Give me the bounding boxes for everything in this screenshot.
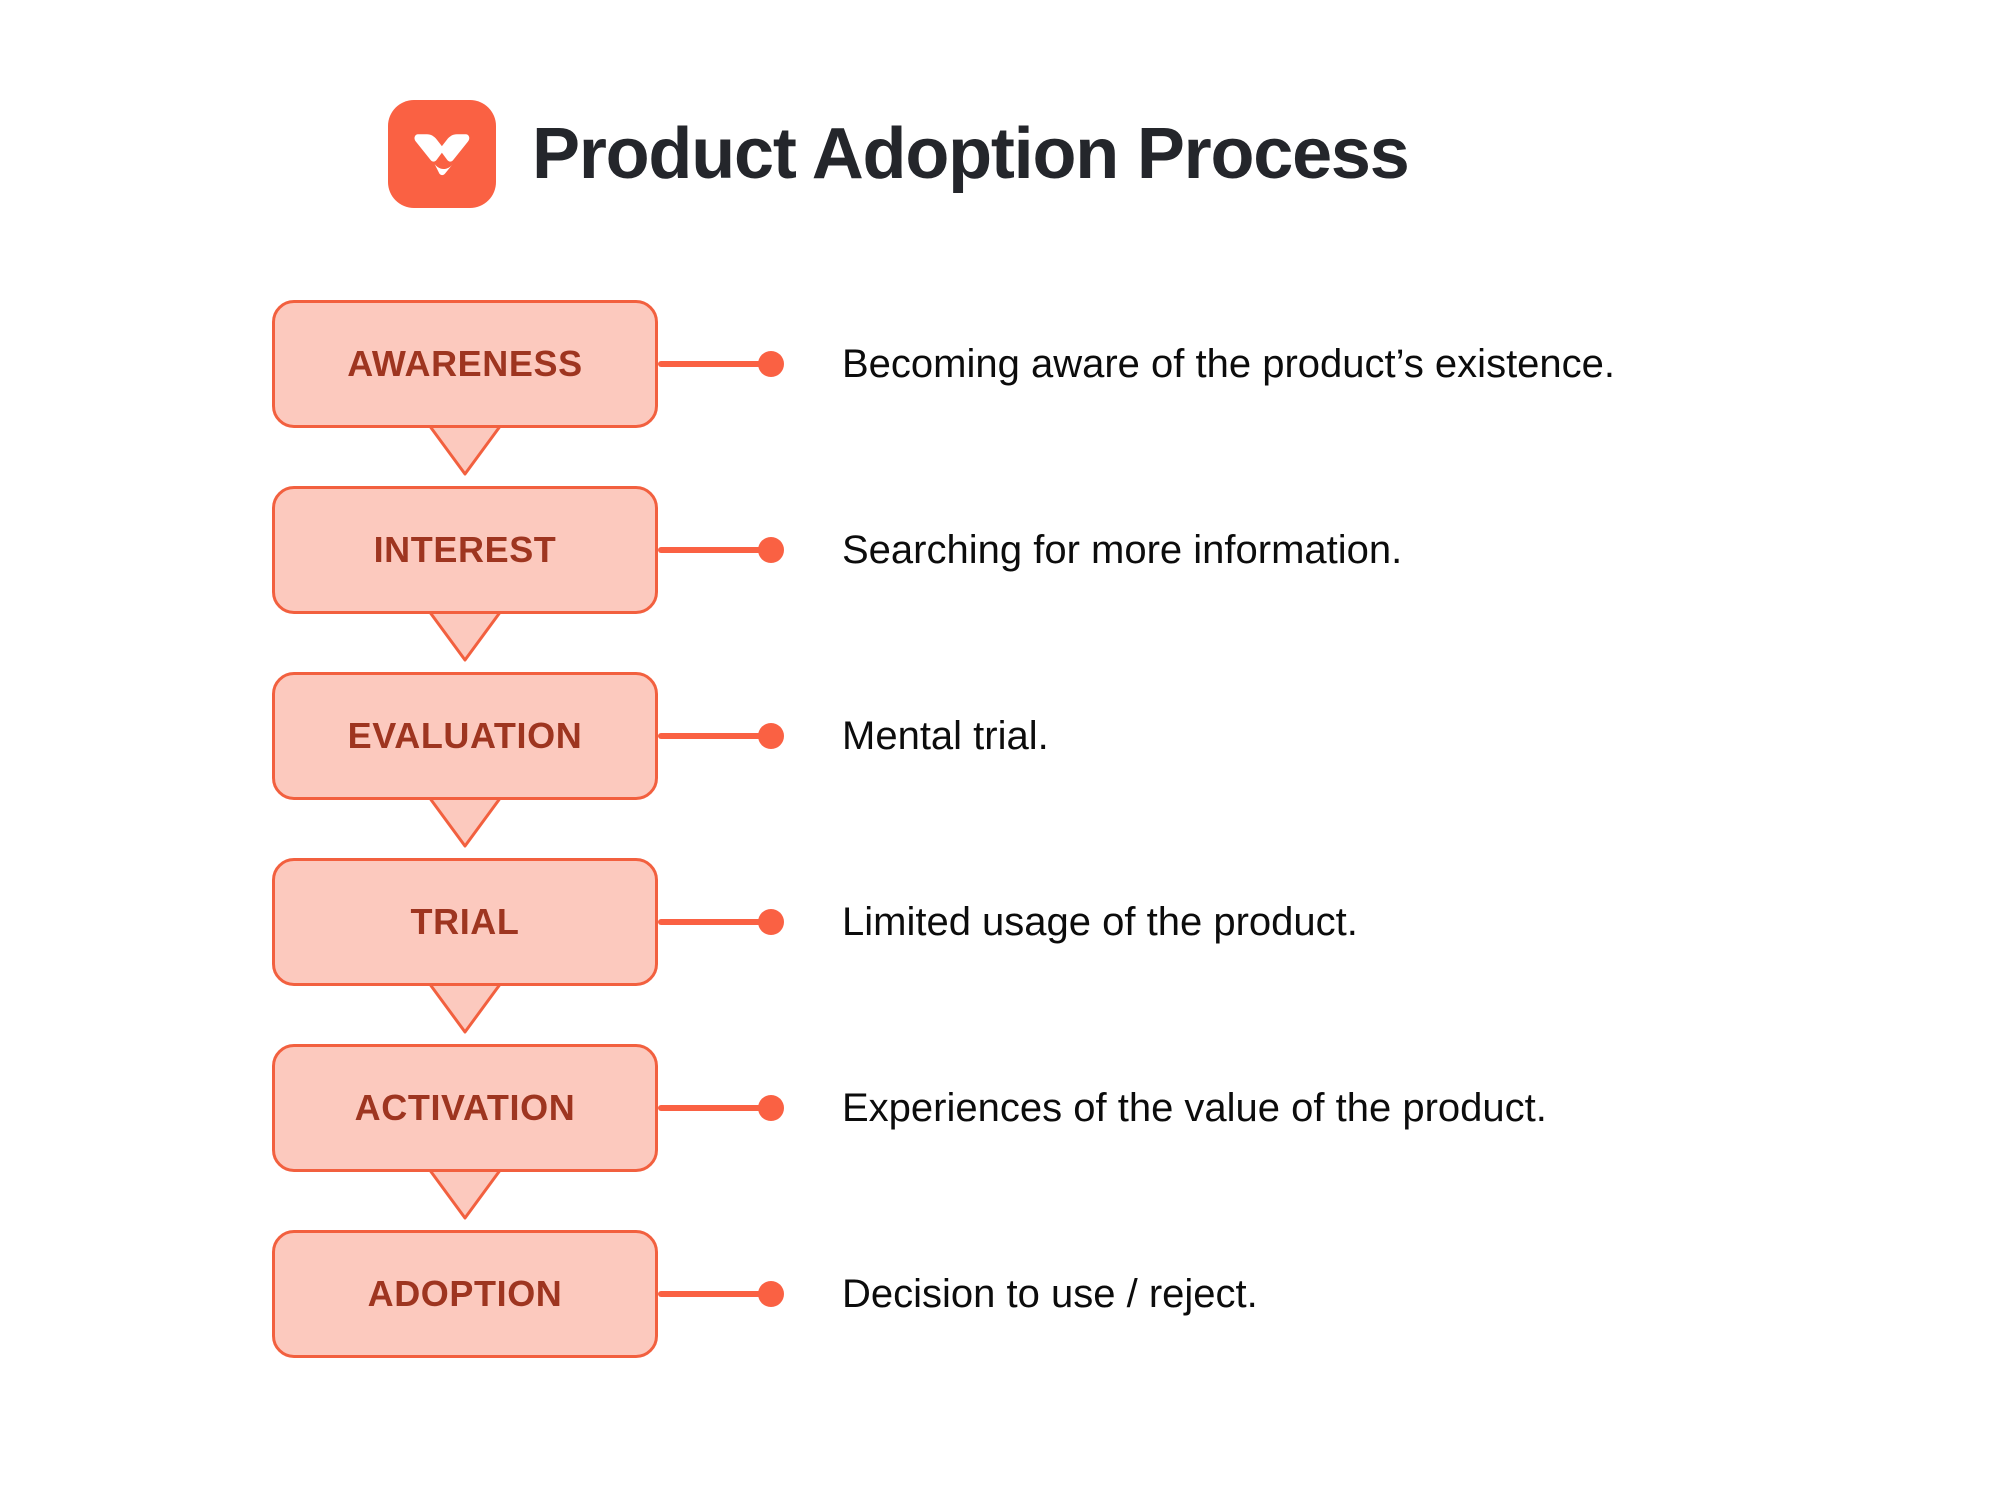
stage-connector	[658, 1230, 794, 1358]
connector-dot-icon	[758, 1095, 784, 1121]
connector-line	[658, 361, 766, 367]
stage-bubble[interactable]: ACTIVATION	[272, 1044, 658, 1172]
stage-label: INTEREST	[374, 532, 557, 568]
stage-connector	[658, 1044, 794, 1172]
stage-label: TRIAL	[411, 904, 520, 940]
adoption-stage-list: AWARENESS Becoming aware of the product’…	[0, 300, 2001, 1416]
bubble-tail-arrow-icon	[272, 1166, 658, 1224]
connector-dot-icon	[758, 537, 784, 563]
stage-label: AWARENESS	[347, 346, 582, 382]
stage-bubble[interactable]: EVALUATION	[272, 672, 658, 800]
stage-row: INTEREST Searching for more information.	[0, 486, 2001, 672]
diagram-page: Product Adoption Process AWARENESS	[0, 0, 2001, 1500]
page-header: Product Adoption Process	[388, 100, 1409, 208]
stage-bubble-wrap: TRIAL	[272, 858, 658, 986]
stage-row: TRIAL Limited usage of the product.	[0, 858, 2001, 1044]
stage-description: Decision to use / reject.	[842, 1230, 1258, 1358]
stage-description-text: Experiences of the value of the product.	[842, 1085, 1547, 1131]
stage-connector	[658, 486, 794, 614]
stage-bubble[interactable]: ADOPTION	[272, 1230, 658, 1358]
stage-row: AWARENESS Becoming aware of the product’…	[0, 300, 2001, 486]
connector-dot-icon	[758, 909, 784, 935]
stage-description: Searching for more information.	[842, 486, 1402, 614]
connector-line	[658, 547, 766, 553]
stage-connector	[658, 300, 794, 428]
stage-description: Mental trial.	[842, 672, 1049, 800]
bubble-tail-arrow-icon	[272, 608, 658, 666]
wondershare-w-logo-icon	[388, 100, 496, 208]
connector-dot-icon	[758, 351, 784, 377]
stage-connector	[658, 858, 794, 986]
connector-dot-icon	[758, 723, 784, 749]
stage-bubble-wrap: INTEREST	[272, 486, 658, 614]
stage-label: ACTIVATION	[355, 1090, 576, 1126]
stage-bubble[interactable]: TRIAL	[272, 858, 658, 986]
stage-row: ACTIVATION Experiences of the value of t…	[0, 1044, 2001, 1230]
stage-bubble[interactable]: AWARENESS	[272, 300, 658, 428]
bubble-tail-arrow-icon	[272, 794, 658, 852]
stage-label: EVALUATION	[348, 718, 583, 754]
connector-line	[658, 1291, 766, 1297]
connector-line	[658, 919, 766, 925]
stage-label: ADOPTION	[368, 1276, 563, 1312]
stage-description-text: Searching for more information.	[842, 527, 1402, 573]
connector-line	[658, 733, 766, 739]
stage-bubble-wrap: AWARENESS	[272, 300, 658, 428]
stage-description-text: Becoming aware of the product’s existenc…	[842, 341, 1615, 387]
stage-row: EVALUATION Mental trial.	[0, 672, 2001, 858]
stage-bubble-wrap: ACTIVATION	[272, 1044, 658, 1172]
stage-description-text: Mental trial.	[842, 713, 1049, 759]
stage-description-text: Decision to use / reject.	[842, 1271, 1258, 1317]
stage-bubble[interactable]: INTEREST	[272, 486, 658, 614]
connector-dot-icon	[758, 1281, 784, 1307]
stage-bubble-wrap: EVALUATION	[272, 672, 658, 800]
stage-description-text: Limited usage of the product.	[842, 899, 1358, 945]
stage-description: Limited usage of the product.	[842, 858, 1358, 986]
stage-description: Experiences of the value of the product.	[842, 1044, 1547, 1172]
stage-connector	[658, 672, 794, 800]
stage-description: Becoming aware of the product’s existenc…	[842, 300, 1615, 428]
bubble-tail-arrow-icon	[272, 980, 658, 1038]
connector-line	[658, 1105, 766, 1111]
stage-row: ADOPTION Decision to use / reject.	[0, 1230, 2001, 1416]
stage-bubble-wrap: ADOPTION	[272, 1230, 658, 1358]
page-title: Product Adoption Process	[532, 118, 1409, 190]
bubble-tail-arrow-icon	[272, 422, 658, 480]
